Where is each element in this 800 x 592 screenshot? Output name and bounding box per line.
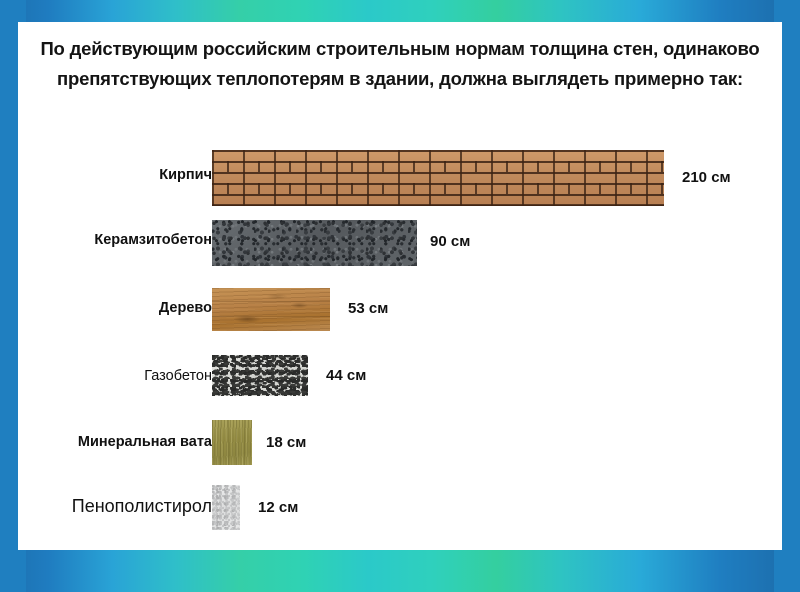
bar-value-brick: 210 см — [682, 169, 731, 186]
bar-value-mineral-wool: 18 см — [266, 434, 306, 451]
bar-value-wood: 53 см — [348, 300, 388, 317]
chart-row-aerated-concrete: Газобетон 44 см — [18, 355, 782, 397]
bar-aerated-concrete — [212, 355, 308, 396]
bar-value-expanded-clay-concrete: 90 см — [430, 233, 470, 250]
chart-row-expanded-polystyrene: Пенополистирол 12 см — [18, 485, 782, 531]
chart-row-mineral-wool: Минеральная вата 18 см — [18, 420, 782, 466]
chart-row-wood: Дерево 53 см — [18, 288, 782, 332]
bar-label-aerated-concrete: Газобетон — [144, 368, 212, 384]
slide: По действующим российским строительным н… — [0, 0, 800, 592]
chart-row-brick: Кирпич 210 см — [18, 150, 782, 208]
bar-wood — [212, 288, 330, 331]
bar-mineral-wool — [212, 420, 252, 465]
bar-brick — [212, 150, 664, 206]
material-thickness-bar-chart: Кирпич 210 см Керамзитобетон 90 см Дерев… — [18, 22, 782, 550]
bar-label-mineral-wool: Минеральная вата — [78, 434, 212, 450]
bar-value-aerated-concrete: 44 см — [326, 367, 366, 384]
bar-label-expanded-polystyrene: Пенополистирол — [72, 496, 212, 517]
bar-label-wood: Дерево — [159, 300, 212, 316]
bar-expanded-polystyrene — [212, 485, 240, 530]
bar-label-brick: Кирпич — [159, 167, 212, 183]
slide-canvas: По действующим российским строительным н… — [18, 22, 782, 550]
bar-expanded-clay-concrete — [212, 220, 417, 266]
bar-label-expanded-clay-concrete: Керамзитобетон — [94, 232, 212, 248]
bar-value-expanded-polystyrene: 12 см — [258, 499, 298, 516]
chart-row-expanded-clay-concrete: Керамзитобетон 90 см — [18, 220, 782, 268]
